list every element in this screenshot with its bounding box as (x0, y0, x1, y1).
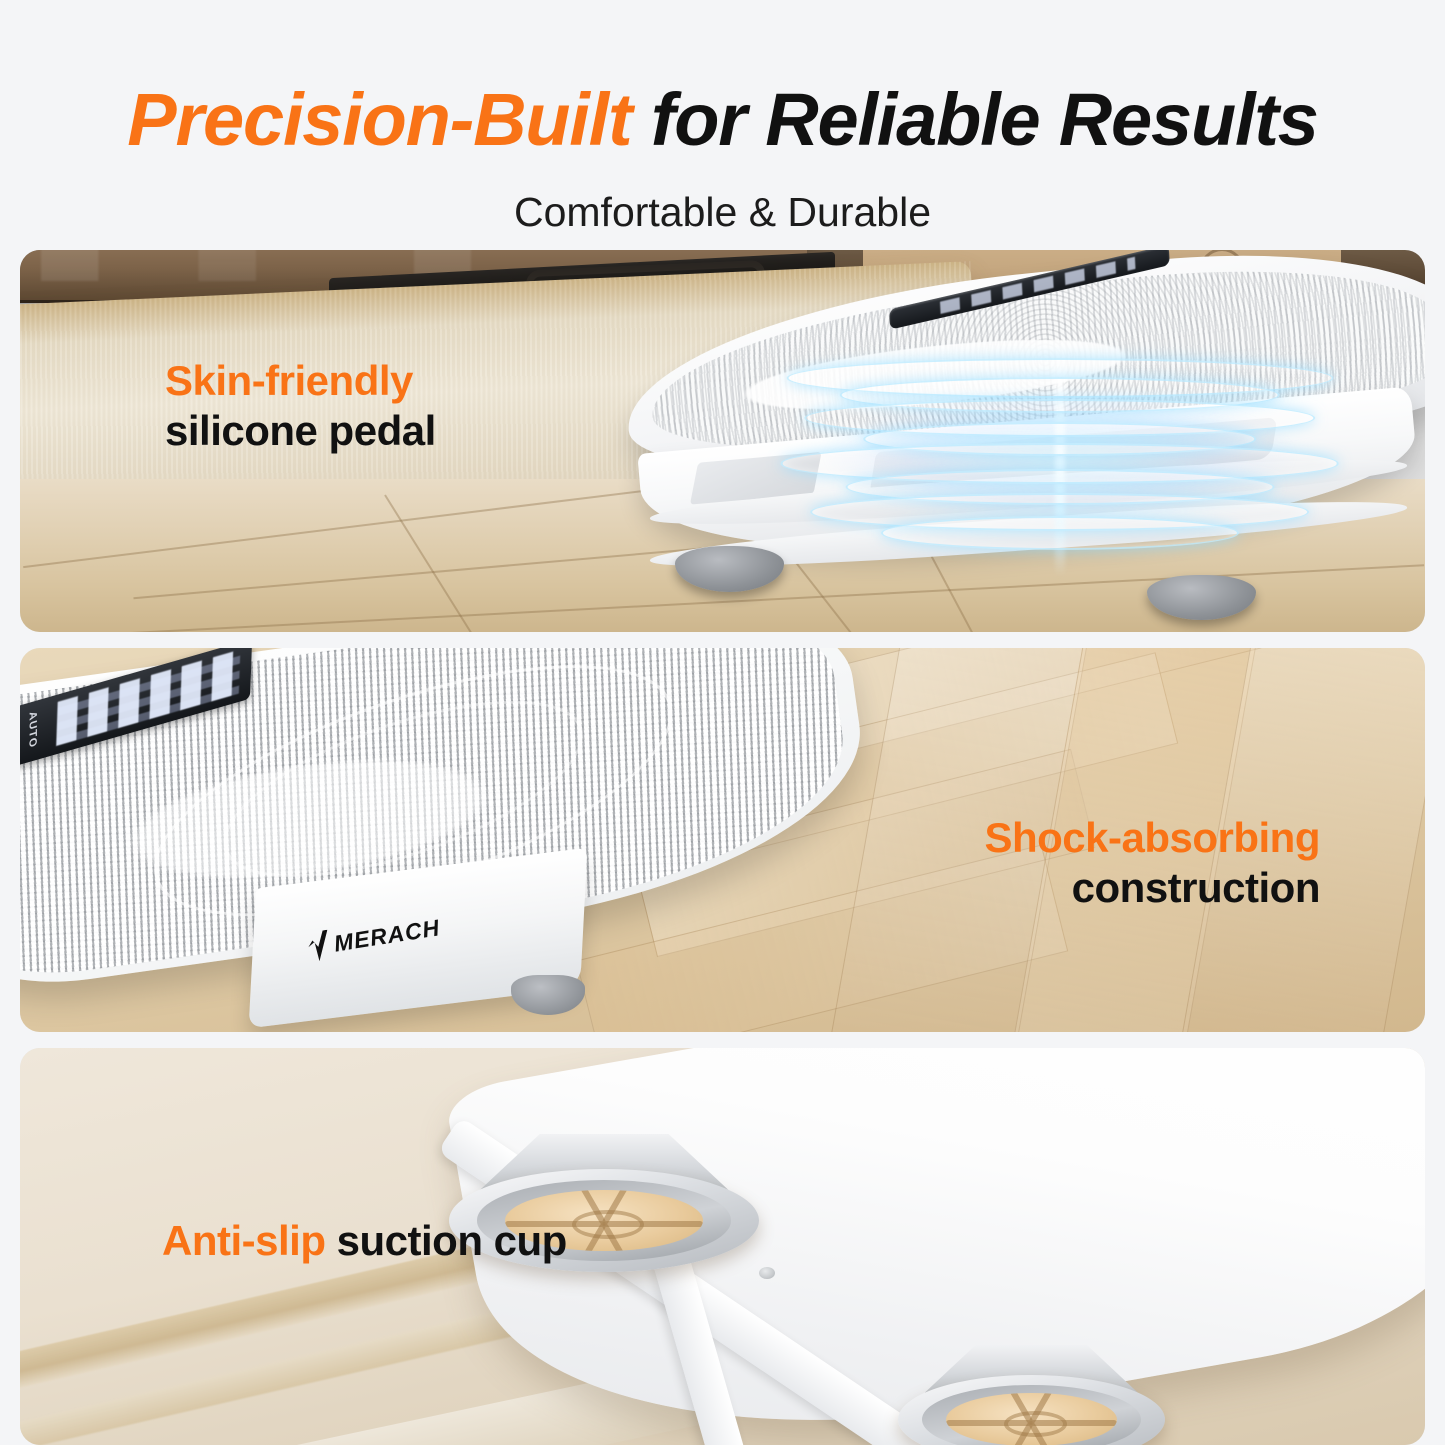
headline-accent-text: Precision-Built (127, 78, 631, 161)
caption-accent-text: Anti-slip (162, 1217, 325, 1264)
caption-rest-text: silicone pedal (165, 406, 436, 456)
panel-1-caption: Skin-friendly silicone pedal (165, 356, 436, 456)
suction-cup-pad (946, 1393, 1117, 1445)
suction-cup-foot (898, 1375, 1165, 1445)
vibration-waves-graphic (765, 349, 1355, 563)
vibration-ring (881, 516, 1239, 550)
page-subtitle: Comfortable & Durable (0, 188, 1445, 236)
rubber-foot (1147, 575, 1257, 621)
caption-accent-text: Skin-friendly (165, 356, 436, 406)
vibration-plate-closeup: TIME AUTO MERACH (20, 648, 863, 1032)
caption-rest-text: construction (984, 863, 1320, 913)
page-header: Precision-Built for Reliable Results Com… (0, 0, 1445, 250)
panel-3-caption: Anti-slip suction cup (162, 1216, 567, 1266)
suction-cup-spoke (604, 1221, 703, 1227)
suction-cup-spoke (946, 1420, 1031, 1426)
page-title: Precision-Built for Reliable Results (0, 78, 1445, 162)
caption-rest-text: suction cup (325, 1217, 566, 1264)
panel-2-caption: Shock-absorbing construction (984, 813, 1320, 913)
rubber-foot (511, 975, 585, 1016)
headline-rest-text: for Reliable Results (631, 78, 1317, 161)
caption-accent-text: Shock-absorbing (984, 813, 1320, 863)
merach-check-icon (307, 930, 328, 963)
led-label-auto: AUTO (26, 709, 38, 749)
suction-cup-spoke (1031, 1420, 1116, 1426)
product-feature-page: Precision-Built for Reliable Results Com… (0, 0, 1445, 1445)
